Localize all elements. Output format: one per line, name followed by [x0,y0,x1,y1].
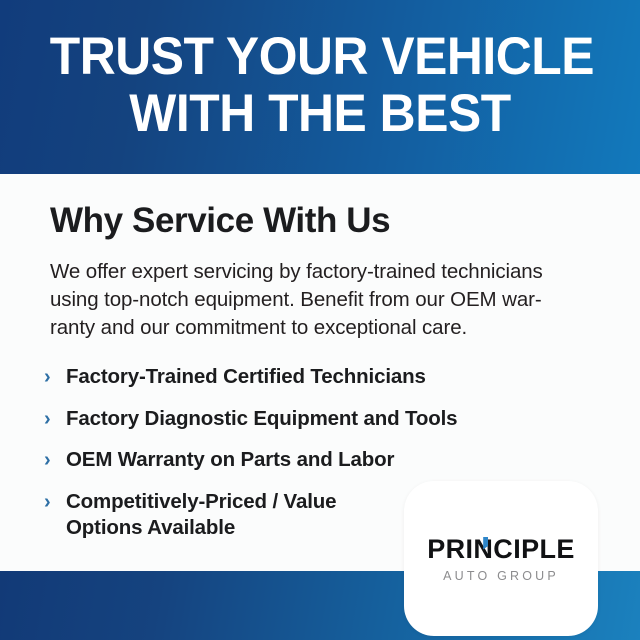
logo-wordmark-text: PRINCIPLE [427,534,575,564]
list-item: › Factory Diagnostic Equipment and Tools [44,406,604,432]
list-item-line-1: OEM Warranty on Parts and Labor [66,447,604,473]
list-item-text: OEM Warranty on Parts and Labor [66,447,604,473]
paragraph-line-3: ranty and our commitment to exceptional … [50,314,598,342]
list-item-line-1: Factory Diagnostic Equipment and Tools [66,406,604,432]
chevron-right-icon: › [44,447,66,472]
list-item-line-1: Factory-Trained Certified Technicians [66,364,604,390]
headline-line-1: TRUST YOUR VEHICLE [19,28,621,85]
header-banner: TRUST YOUR VEHICLE WITH THE BEST [0,0,640,174]
brand-logo-card: PRINCIPLE AUTO GROUP [404,481,598,636]
service-promo-card: TRUST YOUR VEHICLE WITH THE BEST Why Ser… [0,0,640,640]
chevron-right-icon: › [44,406,66,431]
intro-paragraph: We offer expert servicing by factory-tra… [50,258,598,342]
list-item: › OEM Warranty on Parts and Labor [44,447,604,473]
logo-tagline: AUTO GROUP [443,569,559,584]
chevron-right-icon: › [44,489,66,514]
paragraph-line-1: We offer expert servicing by factory-tra… [50,258,598,286]
list-item: › Factory-Trained Certified Technicians [44,364,604,390]
headline-block: TRUST YOUR VEHICLE WITH THE BEST [0,28,640,142]
list-item-text: Factory-Trained Certified Technicians [66,364,604,390]
paragraph-line-2: using top-notch equipment. Benefit from … [50,286,598,314]
list-item-text: Factory Diagnostic Equipment and Tools [66,406,604,432]
chevron-right-icon: › [44,364,66,389]
headline-line-2: WITH THE BEST [19,85,621,142]
logo-wordmark: PRINCIPLE [427,534,575,564]
section-title: Why Service With Us [50,201,390,241]
